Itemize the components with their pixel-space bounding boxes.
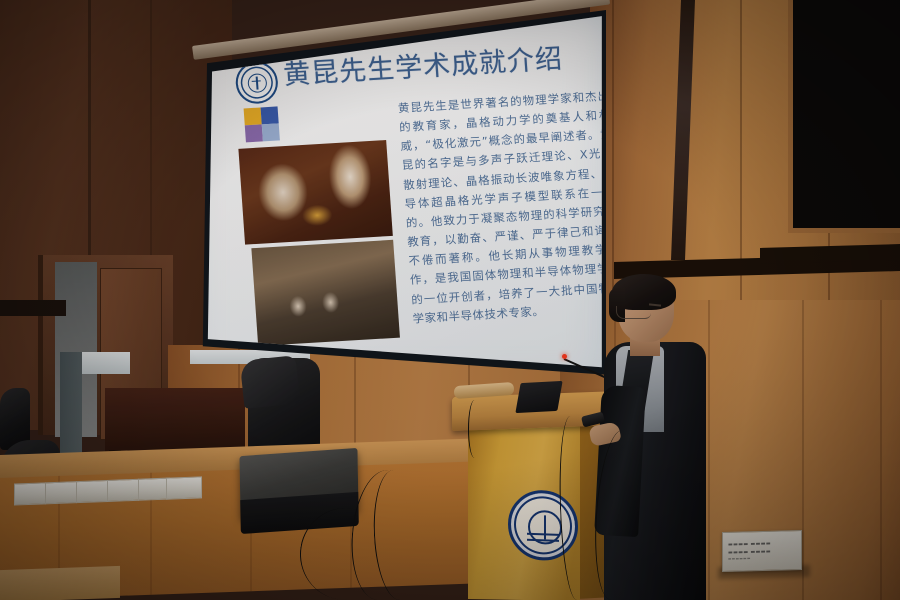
slide-photo-award-ceremony	[238, 140, 392, 245]
wall-black-panel	[788, 0, 900, 233]
background-dark-table	[105, 388, 245, 454]
wall-trim-band-left	[0, 300, 66, 316]
lecture-hall-photograph: 黄昆先生学术成就介绍 黄昆先生是世界著名的物理学家和杰出的教育家，晶格动力学的奠…	[0, 0, 900, 600]
presentation-slide: 黄昆先生学术成就介绍 黄昆先生是世界著名的物理学家和杰出的教育家，晶格动力学的奠…	[216, 35, 632, 358]
background-pillar	[60, 352, 82, 464]
glasses-icon	[616, 306, 651, 319]
slide-accent-squares	[244, 106, 280, 142]
projection-screen: 黄昆先生学术成就介绍 黄昆先生是世界著名的物理学家和杰出的教育家，晶格动力学的奠…	[186, 10, 606, 390]
screen-surface: 黄昆先生学术成就介绍 黄昆先生是世界著名的物理学家和杰出的教育家，晶格动力学的奠…	[186, 10, 606, 390]
presenter-hair	[612, 274, 676, 310]
background-window	[82, 352, 130, 374]
slide-body-text: 黄昆先生是世界著名的物理学家和杰出的教育家，晶格动力学的奠基人和权威，“极化激元…	[397, 87, 625, 329]
slide-photo-group	[238, 140, 400, 346]
wall-mounted-sign: ▬▬▬▬ ▬▬▬▬ ▬▬▬▬ ▬▬▬▬ ▬▬▬▬▬▬	[722, 530, 802, 572]
podium-cable	[468, 400, 481, 458]
slide-photo-group-portrait	[251, 240, 400, 346]
podium-laptop-screen	[515, 381, 562, 413]
wall-sign-line-3: ▬▬▬▬▬▬	[728, 555, 796, 563]
stage-lower-lip	[0, 566, 120, 600]
